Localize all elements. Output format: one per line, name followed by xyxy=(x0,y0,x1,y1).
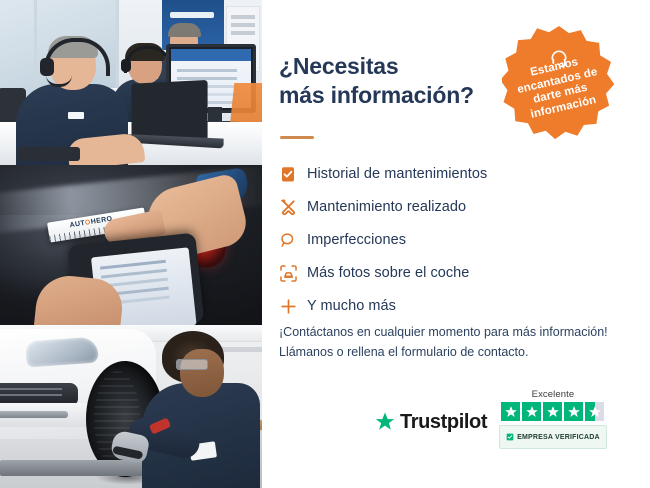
car-grille xyxy=(0,383,78,405)
list-item-label: Mantenimiento realizado xyxy=(307,199,466,215)
car-headlight xyxy=(25,337,99,368)
trustpilot-widget[interactable]: Trustpilot Excelente xyxy=(374,388,632,450)
magnifier-icon xyxy=(279,228,307,252)
contact-line2: Llámanos o rellena el formulario de cont… xyxy=(279,342,631,362)
list-item: Imperfecciones xyxy=(279,224,619,256)
car-bumper xyxy=(0,403,94,427)
content-panel: ¿Necesitas más información? Estamos enca… xyxy=(262,0,650,488)
photo-column: AUTOHERO xyxy=(0,0,262,488)
list-item-label: Y mucho más xyxy=(307,298,396,314)
car-scan-icon xyxy=(279,261,307,285)
contact-line1: ¡Contáctanos en cualquier momento para m… xyxy=(279,322,631,342)
list-item-label: Historial de mantenimientos xyxy=(307,166,487,182)
list-item: Y mucho más xyxy=(279,290,619,322)
star-filled xyxy=(564,402,583,421)
page-title-line2: más información? xyxy=(279,81,529,110)
promo-card: AUTOHERO xyxy=(0,0,650,488)
list-item-label: Imperfecciones xyxy=(307,232,406,248)
verified-company-badge: EMPRESA VERIFICADA xyxy=(499,425,607,449)
star-filled xyxy=(501,402,520,421)
contact-copy: ¡Contáctanos en cualquier momento para m… xyxy=(279,322,631,363)
car-lift xyxy=(0,460,146,476)
list-item: Más fotos sobre el coche xyxy=(279,257,619,289)
wrench-screwdriver-icon xyxy=(279,195,307,219)
list-item: Historial de mantenimientos xyxy=(279,158,619,190)
title-divider xyxy=(280,136,314,139)
mechanic xyxy=(142,331,260,488)
verified-check-icon xyxy=(506,428,514,446)
mechanic-tire-photo xyxy=(0,325,262,488)
starburst-badge: Estamos encantados de darte más informac… xyxy=(502,26,616,140)
laptop xyxy=(132,80,208,140)
call-center-agents-photo xyxy=(0,0,262,165)
list-item-label: Más fotos sobre el coche xyxy=(307,265,469,281)
trustpilot-wordmark: Trustpilot xyxy=(400,411,487,434)
star-filled xyxy=(522,402,541,421)
star-filled xyxy=(543,402,562,421)
trustpilot-star-icon xyxy=(374,411,396,433)
page-title: ¿Necesitas más información? xyxy=(279,52,529,111)
page-title-line1: ¿Necesitas xyxy=(279,52,529,81)
verified-company-label: EMPRESA VERIFICADA xyxy=(517,434,600,441)
list-item: Mantenimiento realizado xyxy=(279,191,619,223)
trustpilot-rating-label: Excelente xyxy=(532,389,575,400)
car-inspection-ruler-photo: AUTOHERO xyxy=(0,165,262,325)
plus-icon xyxy=(279,294,307,318)
trustpilot-stars xyxy=(501,402,604,421)
trustpilot-rating: Excelente xyxy=(499,389,607,449)
feature-list: Historial de mantenimientos Mantenimient… xyxy=(279,158,619,323)
trustpilot-logo: Trustpilot xyxy=(374,411,487,434)
desk-tablet xyxy=(18,147,80,161)
clipboard-check-icon xyxy=(279,162,307,186)
star-half xyxy=(585,402,604,421)
